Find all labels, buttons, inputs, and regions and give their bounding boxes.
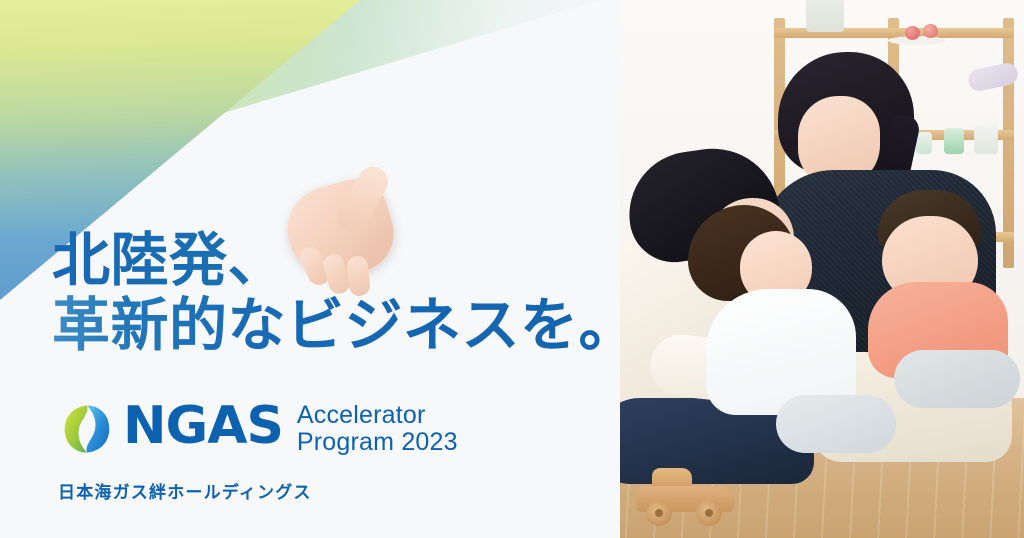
program-line-2: Program 2023 [297, 429, 458, 456]
company-subtitle: 日本海ガス絆ホールディングス [58, 478, 312, 503]
ngas-wordmark: NGAS [123, 398, 283, 454]
headline-line-1: 北陸発、 [52, 228, 637, 293]
headline-line-2: 革新的なビジネスを。 [52, 293, 637, 358]
ngas-accelerator-banner: Smart Home Control JS 🌡22.3 💧54% 23.5 ✻ … [0, 0, 1024, 538]
logo-lockup: NGAS Accelerator Program 2023 [58, 398, 458, 458]
program-title: Accelerator Program 2023 [297, 402, 458, 456]
ngas-leaf-drop-logo-icon [58, 400, 116, 458]
headline: 北陸発、 革新的なビジネスを。 [52, 228, 637, 358]
program-line-1: Accelerator [297, 402, 458, 429]
banner-content: 北陸発、 革新的なビジネスを。 [0, 0, 1024, 538]
